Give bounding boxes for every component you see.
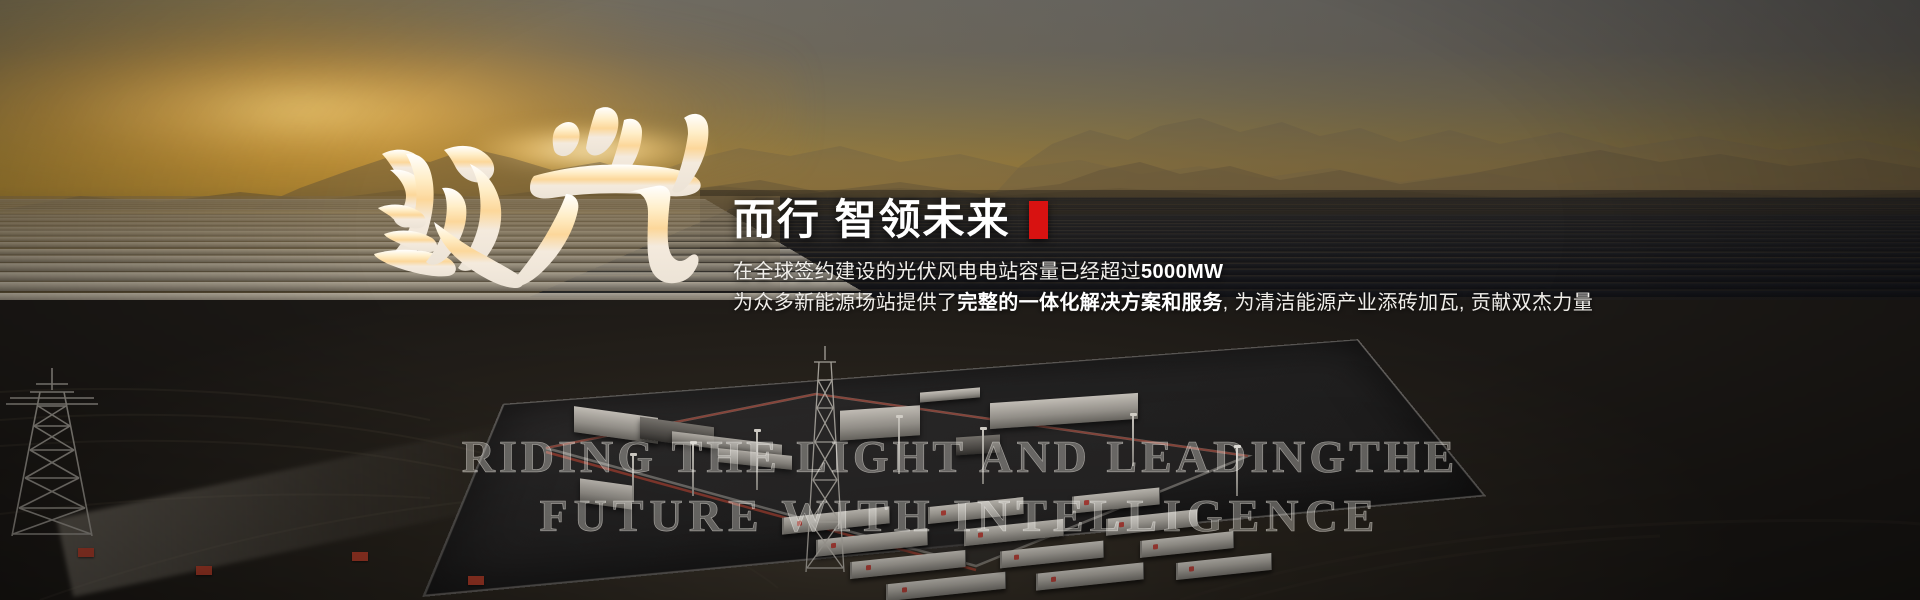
yard-lattice-tower-icon (802, 346, 848, 572)
subheading-block: 在全球签约建设的光伏风电电站容量已经超过5000MW 为众多新能源场站提供了完整… (733, 257, 1593, 319)
site-marker-flag (78, 548, 94, 557)
transmission-tower-icon (0, 368, 104, 536)
main-transformer (840, 405, 920, 441)
hero-banner: 而行 智领未来 在全球签约建设的光伏风电电站容量已经超过5000MW 为众多新能… (0, 0, 1920, 600)
subheading-line-2-text: 为众多新能源场站提供了完整的一体化解决方案和服务, 为清洁能源产业添砖加瓦, 贡… (733, 292, 1593, 314)
site-marker-flag (196, 566, 212, 575)
subheading-line-2: 为众多新能源场站提供了完整的一体化解决方案和服务, 为清洁能源产业添砖加瓦, 贡… (733, 288, 1593, 319)
substation-bess-yard (520, 352, 1400, 600)
light-pole (692, 444, 694, 496)
light-pole (1132, 416, 1134, 466)
light-pole (982, 430, 984, 484)
site-marker-flag (352, 552, 368, 561)
subheading-line-1: 在全球签约建设的光伏风电电站容量已经超过5000MW (733, 257, 1593, 288)
subheading-line-1-text: 在全球签约建设的光伏风电电站容量已经超过5000MW (733, 261, 1223, 283)
red-block-accent (1029, 201, 1048, 239)
mountain-silhouettes (0, 70, 1920, 210)
hero-copy-block: 而行 智领未来 在全球签约建设的光伏风电电站容量已经超过5000MW 为众多新能… (733, 198, 1593, 319)
headline-row: 而行 智领未来 (733, 198, 1593, 243)
light-pole (632, 456, 634, 502)
aux-cabinet (956, 434, 1000, 455)
page-title: 而行 智领未来 (733, 198, 1011, 243)
site-marker-flag (468, 576, 484, 585)
light-pole (1236, 448, 1238, 496)
light-pole (898, 418, 900, 474)
light-pole (756, 432, 758, 490)
